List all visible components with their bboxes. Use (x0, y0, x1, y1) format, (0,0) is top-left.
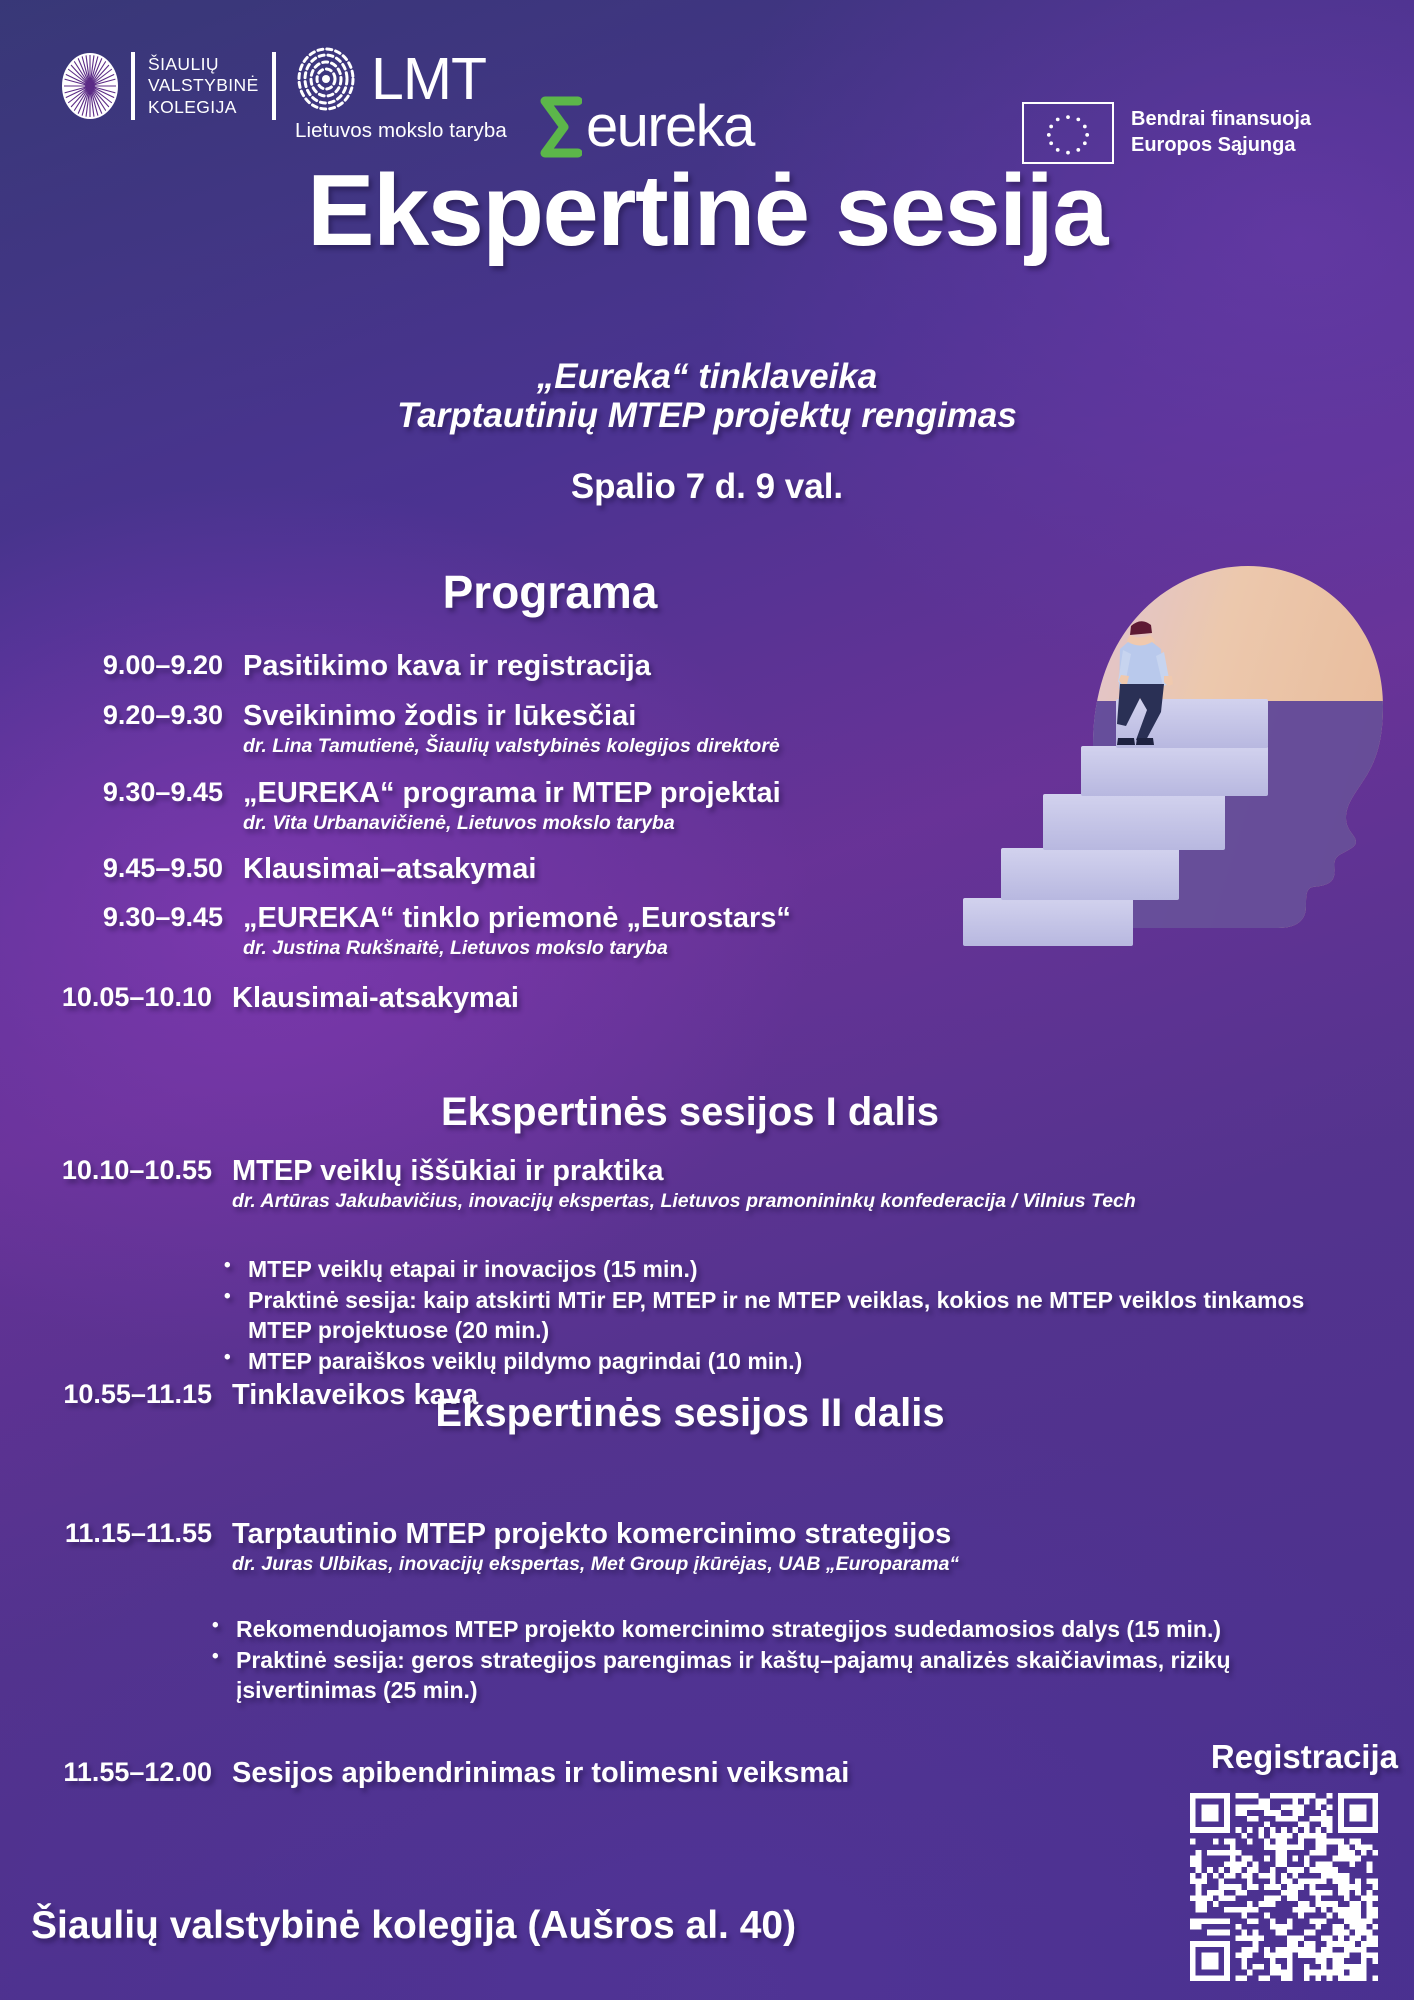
schedule-time: 9.30–9.45 (28, 902, 243, 933)
schedule-row: 11.15–11.55 Tarptautinio MTEP projekto k… (0, 1518, 1340, 1578)
list-item: MTEP paraiškos veiklų pildymo pagrindai … (222, 1347, 1342, 1377)
list-item: MTEP veiklų etapai ir inovacijos (15 min… (222, 1255, 1342, 1285)
programme-heading: Programa (0, 565, 1100, 619)
lmt-fingerprint-icon (295, 46, 357, 112)
poster-canvas: ŠIAULIŲ VALSTYBINĖ KOLEGIJA (0, 0, 1414, 2000)
subtitle-line-2: Tarptautinių MTEP projektų rengimas (0, 394, 1414, 439)
schedule-topic: Sveikinimo žodis ir lūkesčiai (243, 700, 1078, 732)
schedule-topic: Klausimai–atsakymai (243, 853, 1028, 885)
venue-footer: Šiaulių valstybinė kolegija (Aušros al. … (31, 1904, 796, 1948)
logo-eureka: eureka (538, 96, 754, 158)
schedule-time: 9.45–9.50 (28, 853, 243, 884)
schedule-time: 9.20–9.30 (28, 700, 243, 731)
logo-siauliu-valstybine-kolegija: ŠIAULIŲ VALSTYBINĖ KOLEGIJA (62, 52, 276, 120)
logo-bar: ŠIAULIŲ VALSTYBINĖ KOLEGIJA (0, 46, 1414, 156)
schedule-row: 9.30–9.45 „EUREKA“ programa ir MTEP proj… (28, 777, 1088, 837)
schedule-speaker: dr. Vita Urbanavičienė, Lietuvos mokslo … (243, 811, 1088, 836)
list-item: Rekomenduojamos MTEP projekto komercinim… (210, 1615, 1360, 1645)
schedule-row: 9.45–9.50 Klausimai–atsakymai (28, 853, 1028, 885)
schedule-time: 11.15–11.55 (0, 1518, 232, 1549)
schedule-row: 9.20–9.30 Sveikinimo žodis ir lūkesčiai … (28, 700, 1078, 760)
eureka-wordmark: eureka (586, 98, 754, 156)
eu-cofunding-text: Bendrai finansuoja Europos Sąjunga (1131, 107, 1311, 158)
schedule-time: 9.30–9.45 (28, 777, 243, 808)
schedule-speaker: dr. Lina Tamutienė, Šiaulių valstybinės … (243, 734, 1078, 759)
schedule-topic: Sesijos apibendrinimas ir tolimesni veik… (232, 1757, 1200, 1789)
schedule-time: 10.10–10.55 (0, 1155, 232, 1186)
lmt-wordmark: LMT (371, 51, 486, 107)
part-1-bullet-list: MTEP veiklų etapai ir inovacijos (15 min… (222, 1255, 1342, 1378)
schedule-row: 11.55–12.00 Sesijos apibendrinimas ir to… (0, 1757, 1200, 1789)
list-item: Praktinė sesija: geros strategijos paren… (210, 1646, 1360, 1706)
schedule-row: 9.00–9.20 Pasitikimo kava ir registracij… (28, 650, 1028, 682)
part-2-bullet-list: Rekomenduojamos MTEP projekto komercinim… (210, 1615, 1360, 1707)
schedule-speaker: dr. Justina Rukšnaitė, Lietuvos mokslo t… (243, 936, 1088, 961)
schedule-row: 9.30–9.45 „EUREKA“ tinklo priemonė „Euro… (28, 902, 1088, 962)
part-2-heading: Ekspertinės sesijos II dalis (0, 1391, 1380, 1436)
schedule-topic: Pasitikimo kava ir registracija (243, 650, 1028, 682)
schedule-topic: Tarptautinio MTEP projekto komercinimo s… (232, 1518, 1340, 1550)
lmt-subtitle: Lietuvos mokslo taryba (295, 119, 507, 143)
schedule-topic: „EUREKA“ tinklo priemonė „Eurostars“ (243, 902, 1088, 934)
logo-divider-left (131, 52, 135, 120)
registration-qr-code[interactable] (1190, 1793, 1378, 1981)
schedule-time: 11.55–12.00 (0, 1757, 232, 1788)
schedule-row: 10.05–10.10 Klausimai-atsakymai (0, 982, 1000, 1014)
schedule-speaker: dr. Artūras Jakubavičius, inovacijų eksp… (232, 1189, 1340, 1214)
schedule-topic: MTEP veiklų iššūkiai ir praktika (232, 1155, 1340, 1187)
logo-svk-text: ŠIAULIŲ VALSTYBINĖ KOLEGIJA (148, 54, 259, 118)
schedule-time: 10.05–10.10 (0, 982, 232, 1013)
registration-label: Registracija (1211, 1738, 1398, 1776)
schedule-row: 10.10–10.55 MTEP veiklų iššūkiai ir prak… (0, 1155, 1340, 1215)
event-datetime: Spalio 7 d. 9 val. (0, 467, 1414, 507)
logo-lmt: LMT Lietuvos mokslo taryba (295, 46, 507, 143)
logo-divider-right (272, 52, 276, 120)
page-title: Ekspertinė sesija (0, 158, 1414, 265)
sigma-icon (538, 96, 582, 158)
schedule-time: 9.00–9.20 (28, 650, 243, 681)
part-1-heading: Ekspertinės sesijos I dalis (0, 1090, 1380, 1135)
list-item: Praktinė sesija: kaip atskirti MTir EP, … (222, 1286, 1342, 1346)
sunburst-oval-icon (62, 53, 118, 119)
schedule-topic: „EUREKA“ programa ir MTEP projektai (243, 777, 1088, 809)
schedule-speaker: dr. Juras Ulbikas, inovacijų ekspertas, … (232, 1552, 1340, 1577)
schedule-topic: Klausimai-atsakymai (232, 982, 1000, 1014)
